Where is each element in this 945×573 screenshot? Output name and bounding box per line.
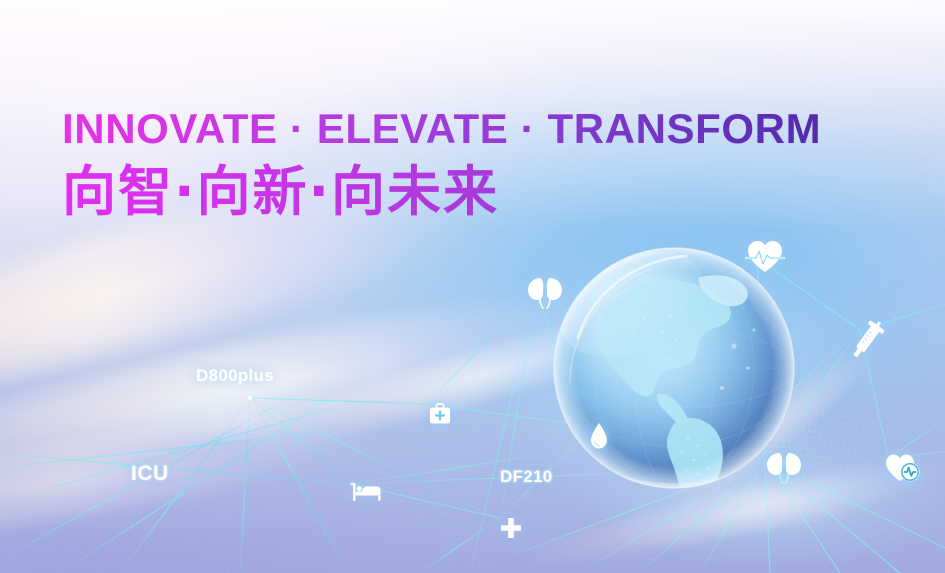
globe-glow (502, 202, 846, 546)
water-drop-icon (588, 422, 610, 450)
medical-cross-icon (500, 517, 522, 539)
headline-block: INNOVATE · ELEVATE · TRANSFORM 向智·向新·向未来 (62, 104, 922, 223)
medical-bag-icon (428, 402, 452, 426)
product-tag-d800plus: D800plus (196, 366, 274, 386)
headline-chinese: 向智·向新·向未来 (62, 161, 922, 223)
product-tag-icu: ICU (131, 462, 169, 486)
kidneys-icon-lower (762, 450, 806, 484)
hero-banner: D800plus ICU DF210 INNOVATE · ELEVATE · … (0, 0, 945, 573)
heart-pulse-icon (745, 239, 785, 275)
syringe-icon (849, 318, 885, 362)
hospital-bed-icon (352, 480, 382, 502)
kidneys-icon (523, 275, 567, 309)
product-tag-df210: DF210 (500, 467, 553, 487)
heart-monitor-icon (884, 452, 922, 484)
headline-english: INNOVATE · ELEVATE · TRANSFORM (62, 104, 922, 154)
